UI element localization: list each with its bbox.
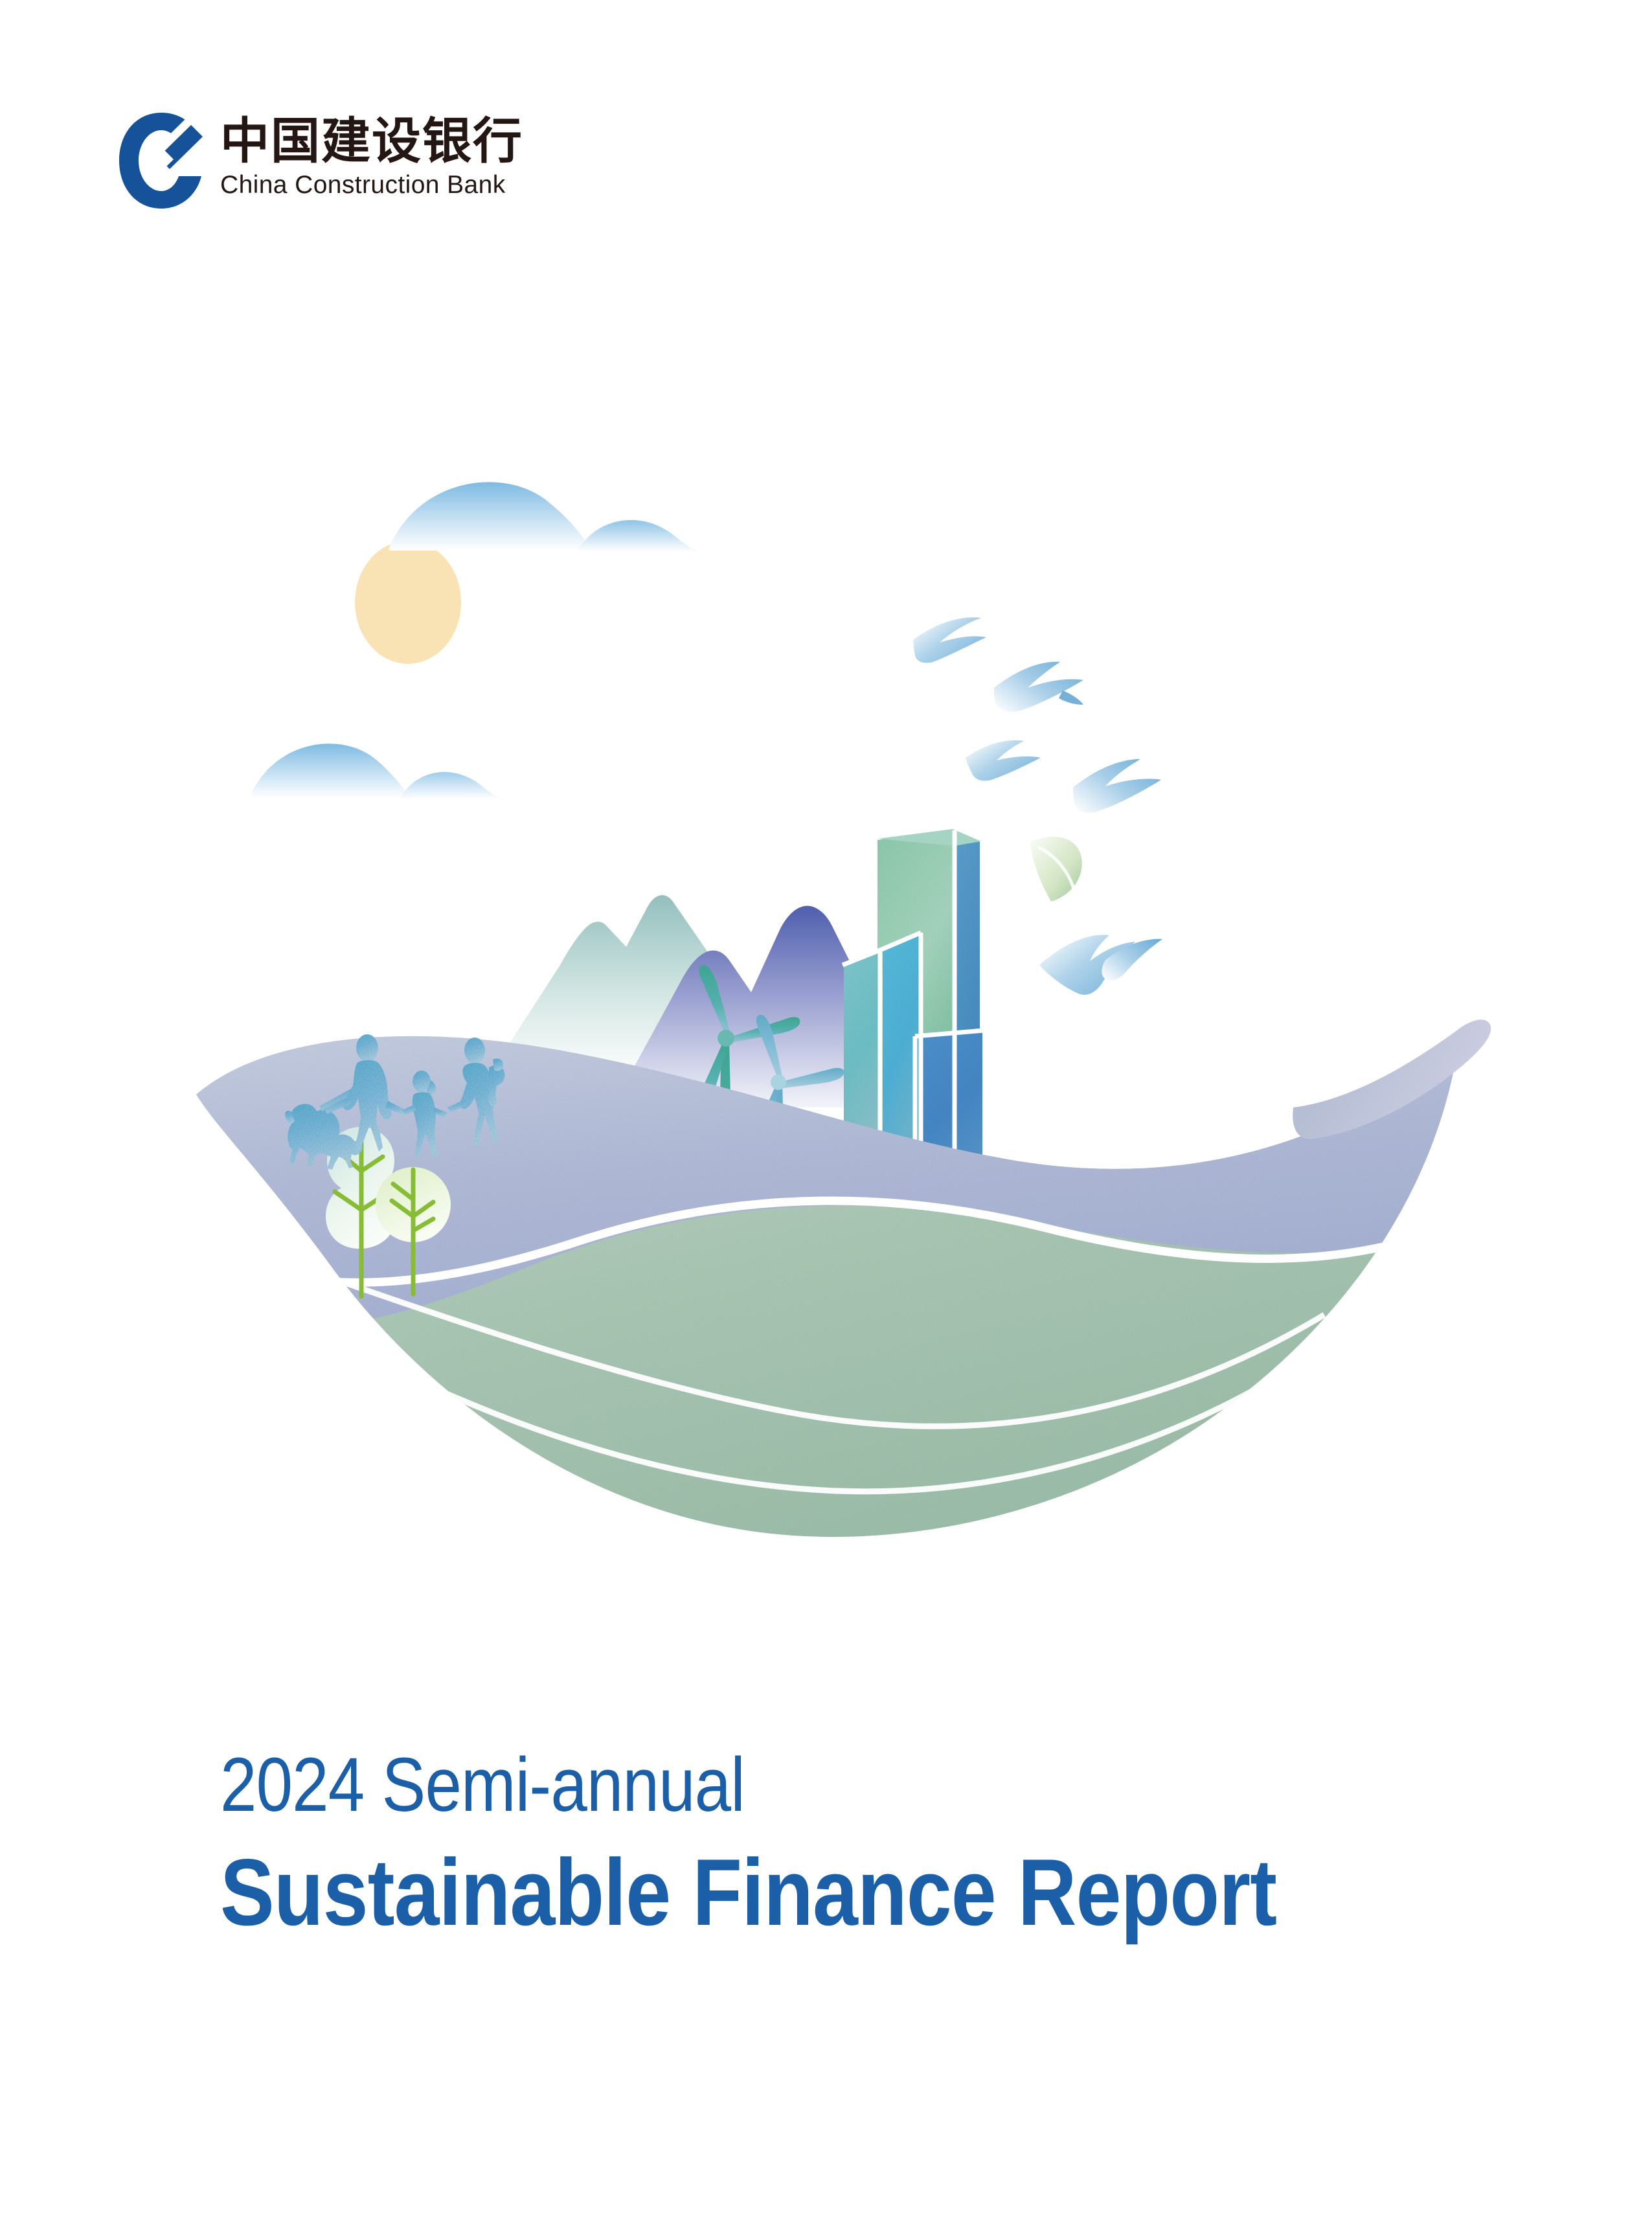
sun xyxy=(355,541,461,664)
report-main-title: Sustainable Finance Report xyxy=(220,1839,1278,1946)
ccb-logo-icon xyxy=(117,111,206,210)
bird-1 xyxy=(913,617,986,663)
brand-logo-block: 中国建设银行 China Construction Bank xyxy=(117,111,523,210)
report-period-title: 2024 Semi-annual xyxy=(220,1742,1278,1828)
bird-4 xyxy=(1073,759,1161,813)
cloud-group-lower xyxy=(249,744,511,799)
brand-name-group: 中国建设银行 China Construction Bank xyxy=(220,111,523,200)
floating-leaf xyxy=(1030,837,1082,902)
bird-5 xyxy=(1039,935,1162,995)
cover-title-block: 2024 Semi-annual Sustainable Finance Rep… xyxy=(220,1742,1451,1946)
brand-name-en: China Construction Bank xyxy=(220,170,523,200)
cover-illustration xyxy=(165,453,1519,1554)
bird-3 xyxy=(966,740,1041,781)
cloud-group-upper xyxy=(389,482,710,552)
brand-name-cn: 中国建设银行 xyxy=(220,115,523,168)
bird-2 xyxy=(994,662,1083,712)
